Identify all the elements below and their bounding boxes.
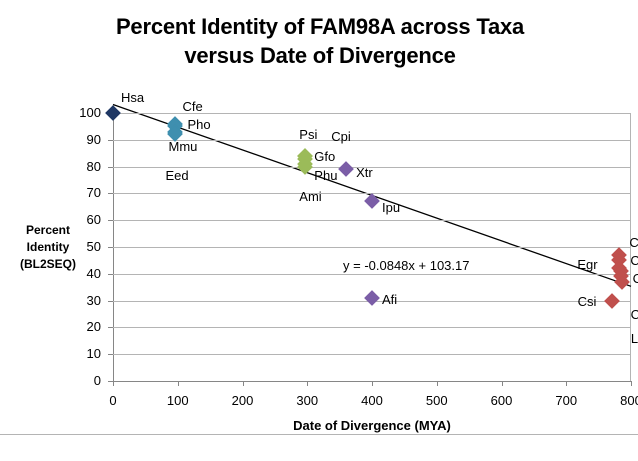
gridline-y-10 bbox=[113, 354, 631, 355]
data-label-mmu: Mmu bbox=[169, 140, 198, 153]
x-tick-label-100: 100 bbox=[148, 393, 208, 408]
y-tick-80 bbox=[108, 167, 113, 168]
x-tick-label-0: 0 bbox=[83, 393, 143, 408]
x-tick-label-400: 400 bbox=[342, 393, 402, 408]
x-tick-300 bbox=[307, 381, 308, 386]
data-label-eed: Eed bbox=[166, 169, 189, 182]
y-tick-60 bbox=[108, 220, 113, 221]
y-tick-label-20: 20 bbox=[0, 319, 101, 334]
data-label-pho: Pho bbox=[188, 118, 211, 131]
x-tick-700 bbox=[566, 381, 567, 386]
x-tick-label-700: 700 bbox=[536, 393, 596, 408]
x-tick-label-300: 300 bbox=[277, 393, 337, 408]
y-tick-label-50: 50 bbox=[0, 239, 101, 254]
data-label-csi: Csi bbox=[578, 295, 597, 308]
y-tick-label-80: 80 bbox=[0, 159, 101, 174]
data-label-ipu: Ipu bbox=[382, 201, 400, 214]
gridline-y-40 bbox=[113, 274, 631, 275]
data-point-xtr[interactable] bbox=[338, 161, 354, 177]
y-tick-40 bbox=[108, 274, 113, 275]
y-tick-label-70: 70 bbox=[0, 185, 101, 200]
data-label-egr: Egr bbox=[577, 258, 597, 271]
chart-title-line-2: versus Date of Divergence bbox=[40, 41, 600, 70]
data-label-afi: Afi bbox=[382, 293, 397, 306]
data-label-ami: Ami bbox=[299, 190, 321, 203]
data-label-cgi: Cgi bbox=[629, 236, 638, 249]
data-point-csi[interactable] bbox=[604, 293, 620, 309]
chart-title-line-1: Percent Identity of FAM98A across Taxa bbox=[40, 12, 600, 41]
x-tick-label-600: 600 bbox=[472, 393, 532, 408]
data-label-cpi: Cpi bbox=[331, 130, 351, 143]
gridline-y-60 bbox=[113, 220, 631, 221]
x-tick-label-200: 200 bbox=[213, 393, 273, 408]
data-label-cfe: Cfe bbox=[183, 100, 203, 113]
y-tick-label-90: 90 bbox=[0, 132, 101, 147]
x-axis-title: Date of Divergence (MYA) bbox=[113, 418, 631, 433]
data-label-psi: Psi bbox=[299, 128, 317, 141]
gridline-y-50 bbox=[113, 247, 631, 248]
x-tick-0 bbox=[113, 381, 114, 386]
y-tick-label-10: 10 bbox=[0, 346, 101, 361]
gridline-y-20 bbox=[113, 327, 631, 328]
y-tick-70 bbox=[108, 193, 113, 194]
trendline-equation-label: y = -0.0848x + 103.17 bbox=[343, 258, 469, 273]
data-label-lsa: Lsa bbox=[631, 332, 638, 345]
x-tick-500 bbox=[437, 381, 438, 386]
data-label-gfo: Gfo bbox=[314, 150, 335, 163]
y-tick-label-30: 30 bbox=[0, 293, 101, 308]
y-tick-label-40: 40 bbox=[0, 266, 101, 281]
x-tick-label-800: 800 bbox=[601, 393, 638, 408]
data-point-ipu[interactable] bbox=[364, 194, 380, 210]
x-tick-800 bbox=[631, 381, 632, 386]
data-point-hsa[interactable] bbox=[105, 105, 121, 121]
x-tick-200 bbox=[243, 381, 244, 386]
data-label-hsa: Hsa bbox=[121, 91, 144, 104]
y-tick-label-100: 100 bbox=[0, 105, 101, 120]
x-tick-100 bbox=[178, 381, 179, 386]
data-label-cca: Cca bbox=[631, 308, 638, 321]
y-tick-10 bbox=[108, 354, 113, 355]
chart-title: Percent Identity of FAM98A across Taxa v… bbox=[40, 12, 600, 70]
y-tick-20 bbox=[108, 327, 113, 328]
y-tick-90 bbox=[108, 140, 113, 141]
y-tick-label-60: 60 bbox=[0, 212, 101, 227]
data-point-afi[interactable] bbox=[364, 290, 380, 306]
x-tick-400 bbox=[372, 381, 373, 386]
data-label-xtr: Xtr bbox=[356, 166, 373, 179]
x-tick-600 bbox=[502, 381, 503, 386]
data-label-cqu: Cqu bbox=[633, 272, 638, 285]
data-label-phu: Phu bbox=[314, 169, 337, 182]
y-tick-30 bbox=[108, 301, 113, 302]
x-tick-label-500: 500 bbox=[407, 393, 467, 408]
data-label-cfl: Cfl bbox=[630, 254, 638, 267]
chart-container: Percent Identity of FAM98A across Taxa v… bbox=[0, 0, 638, 461]
y-tick-label-0: 0 bbox=[0, 373, 101, 388]
y-tick-50 bbox=[108, 247, 113, 248]
